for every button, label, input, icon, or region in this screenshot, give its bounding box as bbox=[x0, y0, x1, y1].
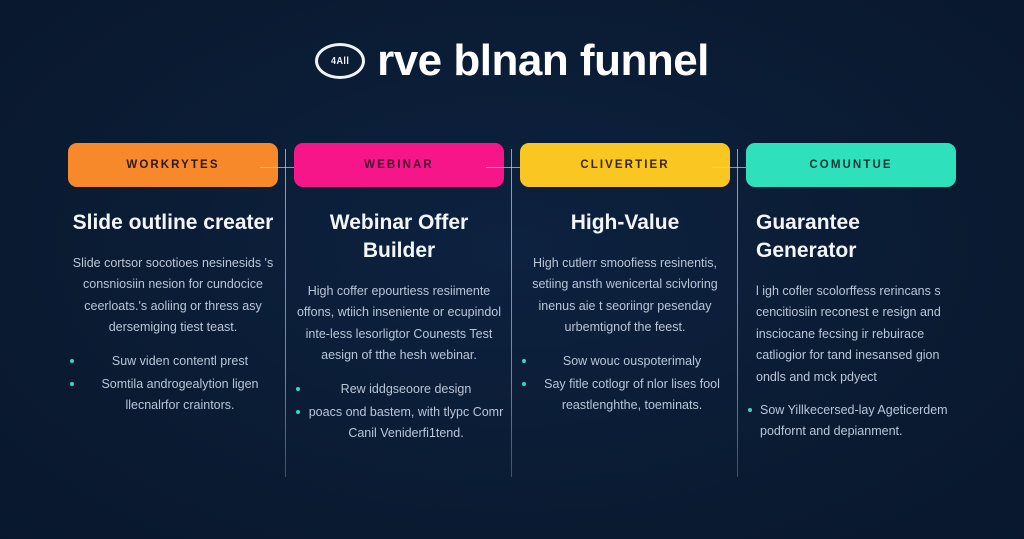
funnel-column-3: CLIVERTIER High-Value High cutlerr smoof… bbox=[512, 143, 738, 483]
funnel-columns: WORKRYTES Slide outline creater Slide co… bbox=[60, 143, 964, 483]
page-title: 4All rve blnan funnel bbox=[0, 30, 1024, 92]
logo-badge-text: 4All bbox=[331, 56, 349, 67]
funnel-column-2: WEBINAR Webinar Offer Builder High coffe… bbox=[286, 143, 512, 483]
list-item: poacs ond bastem, with tlypc Comr Canil … bbox=[294, 402, 504, 444]
column-body-1: Slide cortsor socotioes nesinesids 's co… bbox=[68, 253, 278, 339]
list-item: Sow Yillkecersed-lay Ageticerdem podforn… bbox=[746, 400, 956, 442]
column-title-2: Webinar Offer Builder bbox=[294, 209, 504, 265]
stage-badge-label-2: WEBINAR bbox=[364, 159, 434, 171]
list-item: Say fitle cotlogr of nlor lises fool rea… bbox=[520, 374, 730, 416]
page-title-text: rve blnan funnel bbox=[377, 36, 709, 86]
list-item: Suw viden contentl prest bbox=[68, 351, 278, 372]
column-title-3: High-Value bbox=[520, 209, 730, 237]
logo-oval-icon: 4All bbox=[315, 43, 365, 79]
list-item: Sow wouc ouspoterimaly bbox=[520, 351, 730, 372]
stage-badge-label-3: CLIVERTIER bbox=[580, 159, 669, 171]
list-item: Rew iddgseoore design bbox=[294, 379, 504, 400]
funnel-column-4: COMUNTUE Guarantee Generator l igh cofle… bbox=[738, 143, 964, 483]
column-bullets-2: Rew iddgseoore design poacs ond bastem, … bbox=[294, 379, 504, 444]
column-bullets-3: Sow wouc ouspoterimaly Say fitle cotlogr… bbox=[520, 351, 730, 416]
column-title-1: Slide outline creater bbox=[68, 209, 278, 237]
stage-badge-1[interactable]: WORKRYTES bbox=[68, 143, 278, 187]
stage-badge-4[interactable]: COMUNTUE bbox=[746, 143, 956, 187]
stage-badge-2[interactable]: WEBINAR bbox=[294, 143, 504, 187]
column-title-4: Guarantee Generator bbox=[746, 209, 956, 265]
infographic-slide: 4All rve blnan funnel WORKRYTES Slide ou… bbox=[0, 0, 1024, 539]
column-body-3: High cutlerr smoofiess resinentis, setii… bbox=[520, 253, 730, 339]
column-bullets-4: Sow Yillkecersed-lay Ageticerdem podforn… bbox=[746, 400, 956, 442]
funnel-column-1: WORKRYTES Slide outline creater Slide co… bbox=[60, 143, 286, 483]
list-item: Somtila androgealytion ligen llecnalrfor… bbox=[68, 374, 278, 416]
stage-badge-label-1: WORKRYTES bbox=[126, 159, 219, 171]
column-body-4: l igh cofler scolorffess rerincans s cen… bbox=[746, 281, 956, 389]
stage-badge-3[interactable]: CLIVERTIER bbox=[520, 143, 730, 187]
column-body-2: High coffer epourtiess resiimente offons… bbox=[294, 281, 504, 367]
stage-badge-label-4: COMUNTUE bbox=[809, 159, 892, 171]
column-bullets-1: Suw viden contentl prest Somtila androge… bbox=[68, 351, 278, 416]
